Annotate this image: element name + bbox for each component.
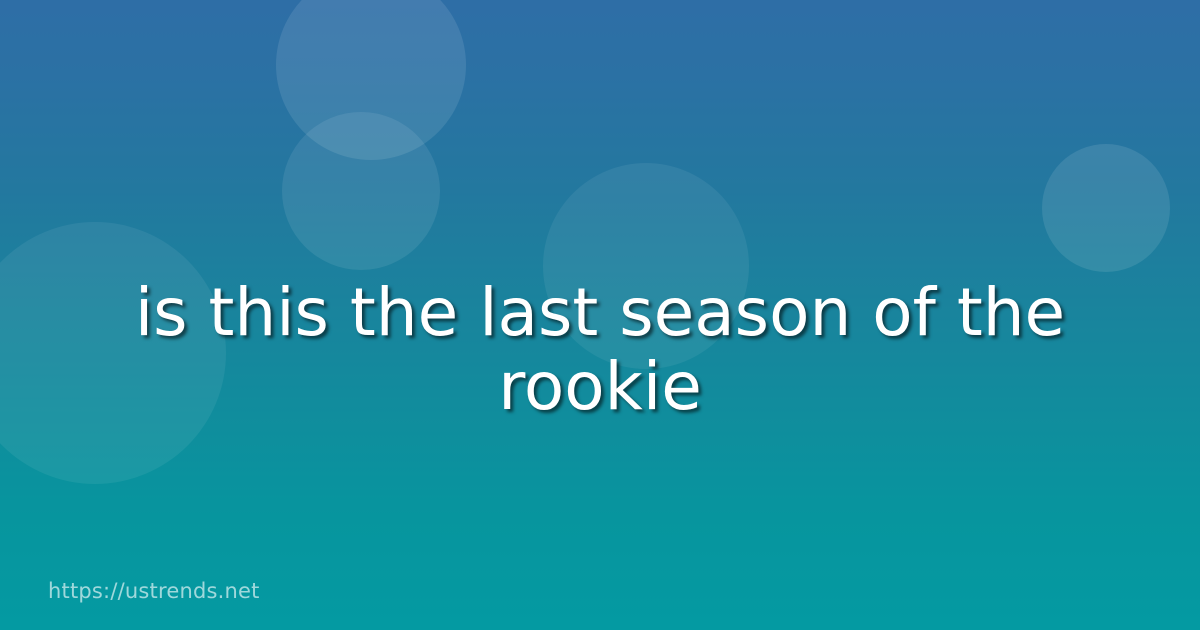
headline-title: is this the last season of the rookie — [0, 276, 1200, 424]
decorative-circle-top-big — [276, 0, 466, 160]
decorative-circle-right — [1042, 144, 1170, 272]
site-url-label: https://ustrends.net — [48, 578, 260, 604]
share-card: is this the last season of the rookie ht… — [0, 0, 1200, 630]
decorative-circle-top-small — [282, 112, 440, 270]
